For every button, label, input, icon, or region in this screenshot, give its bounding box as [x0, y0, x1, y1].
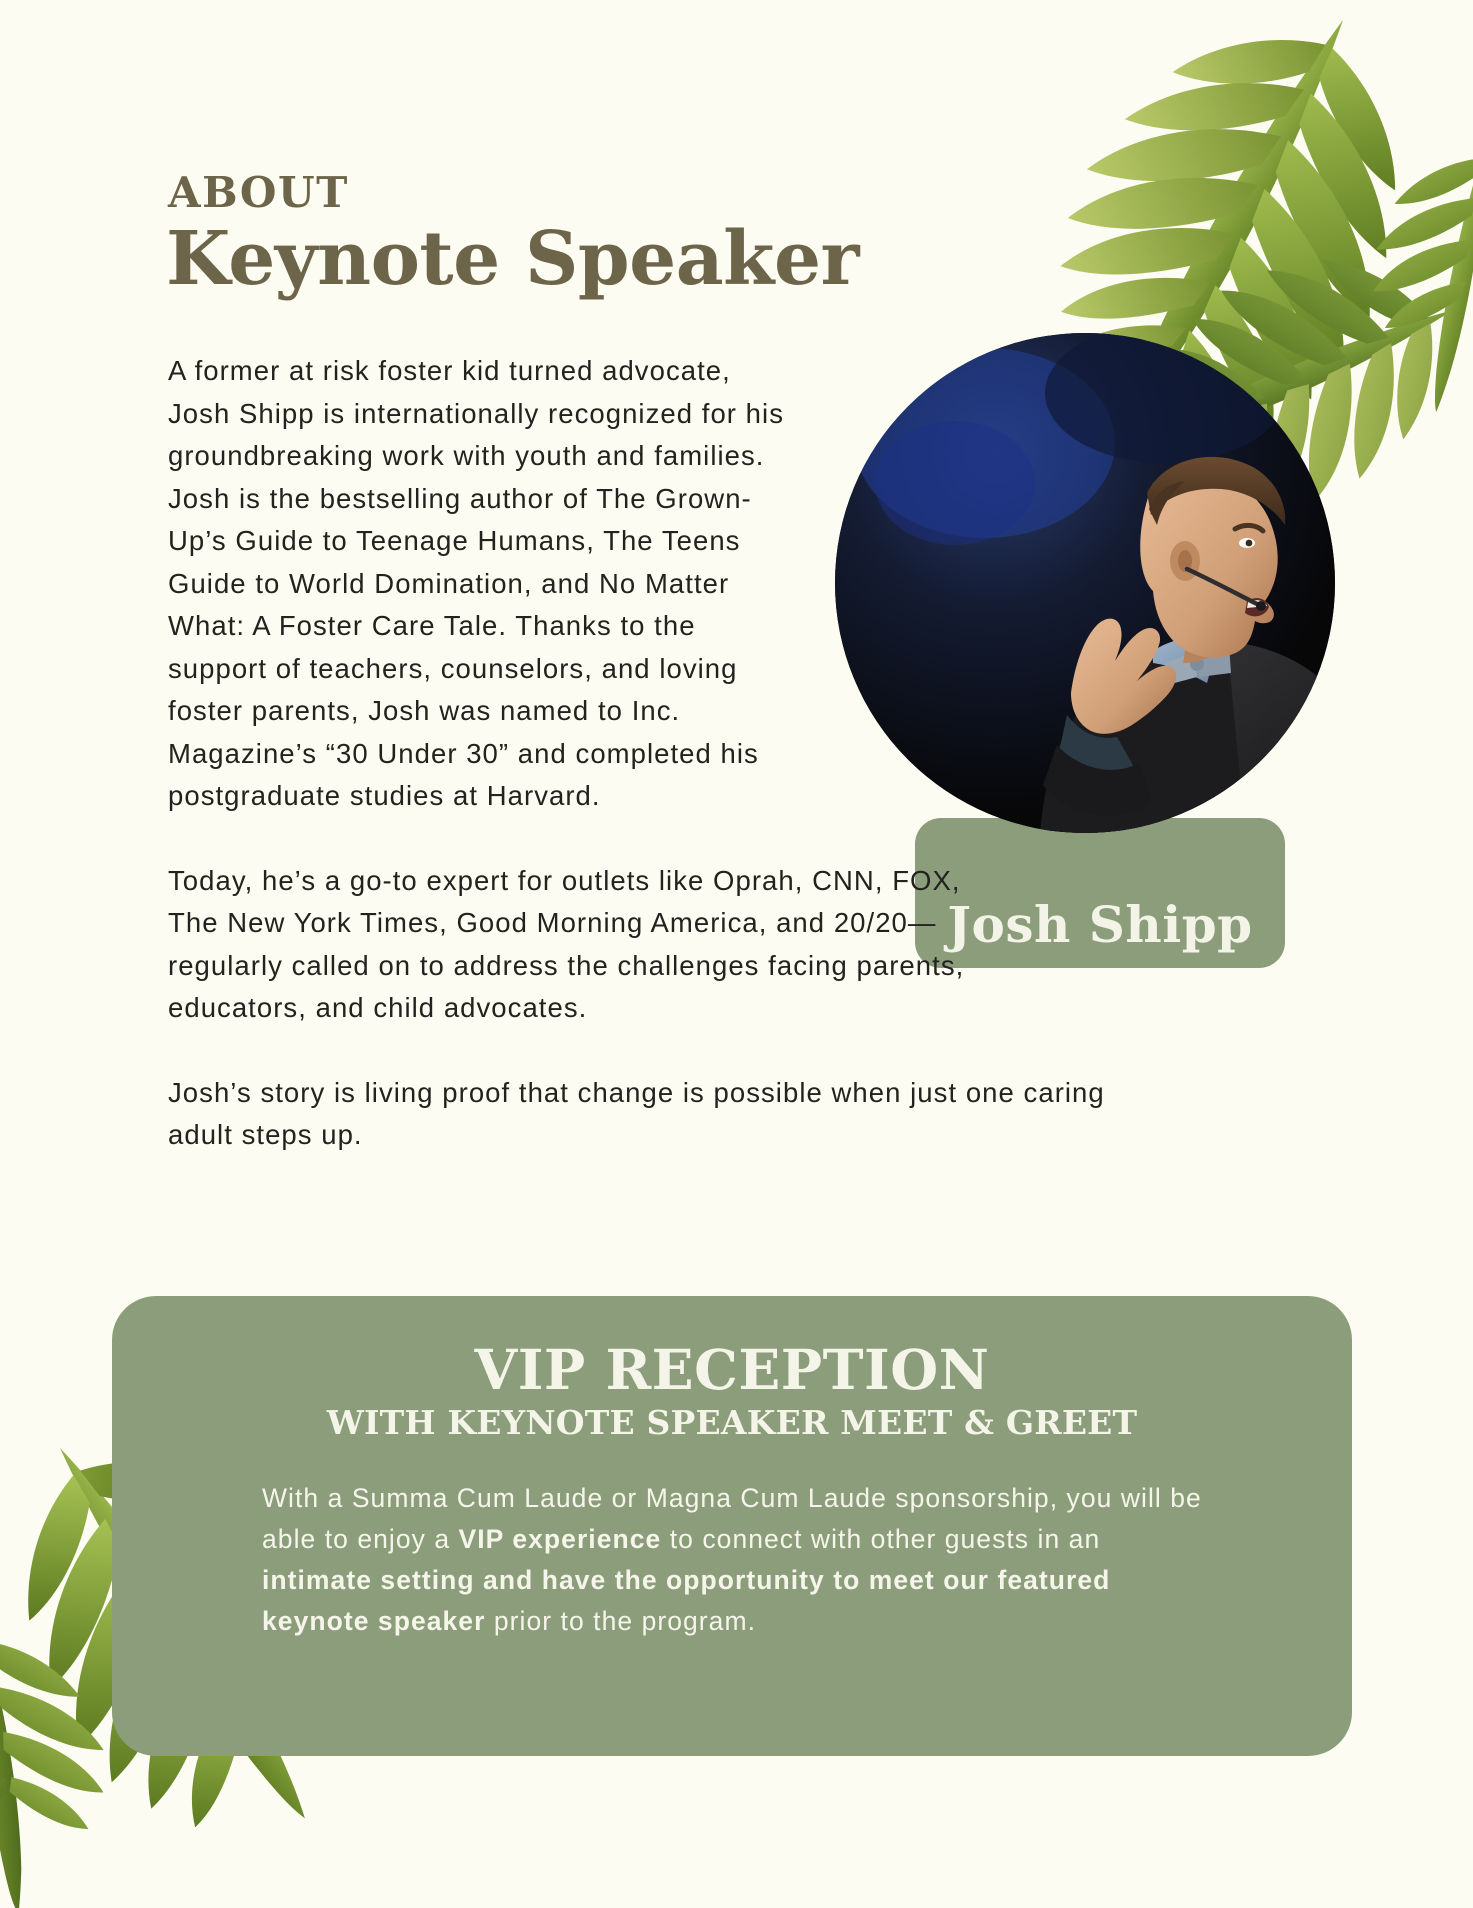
about-keynote-speaker-page: ABOUT Keynote Speaker Josh Shipp [0, 0, 1473, 1868]
vip-bold-1: VIP experience [459, 1524, 662, 1554]
vip-title: VIP RECEPTION [112, 1340, 1352, 1399]
vip-text-3: prior to the program. [485, 1606, 756, 1636]
vip-description: With a Summa Cum Laude or Magna Cum Laud… [262, 1478, 1202, 1642]
vip-text-2: to connect with other guests in an [661, 1524, 1100, 1554]
page-title: Keynote Speaker [166, 222, 859, 296]
bio-paragraph-3: Josh’s story is living proof that change… [168, 1072, 1168, 1157]
page-kicker: ABOUT [168, 172, 349, 214]
vip-reception-panel: VIP RECEPTION WITH KEYNOTE SPEAKER MEET … [112, 1296, 1352, 1756]
bio-paragraph-1: A former at risk foster kid turned advoc… [168, 350, 798, 818]
bio-paragraph-2: Today, he’s a go-to expert for outlets l… [168, 860, 1008, 1030]
vip-subtitle: WITH KEYNOTE SPEAKER MEET & GREET [112, 1403, 1352, 1442]
speaker-bio: A former at risk foster kid turned advoc… [168, 350, 998, 1157]
